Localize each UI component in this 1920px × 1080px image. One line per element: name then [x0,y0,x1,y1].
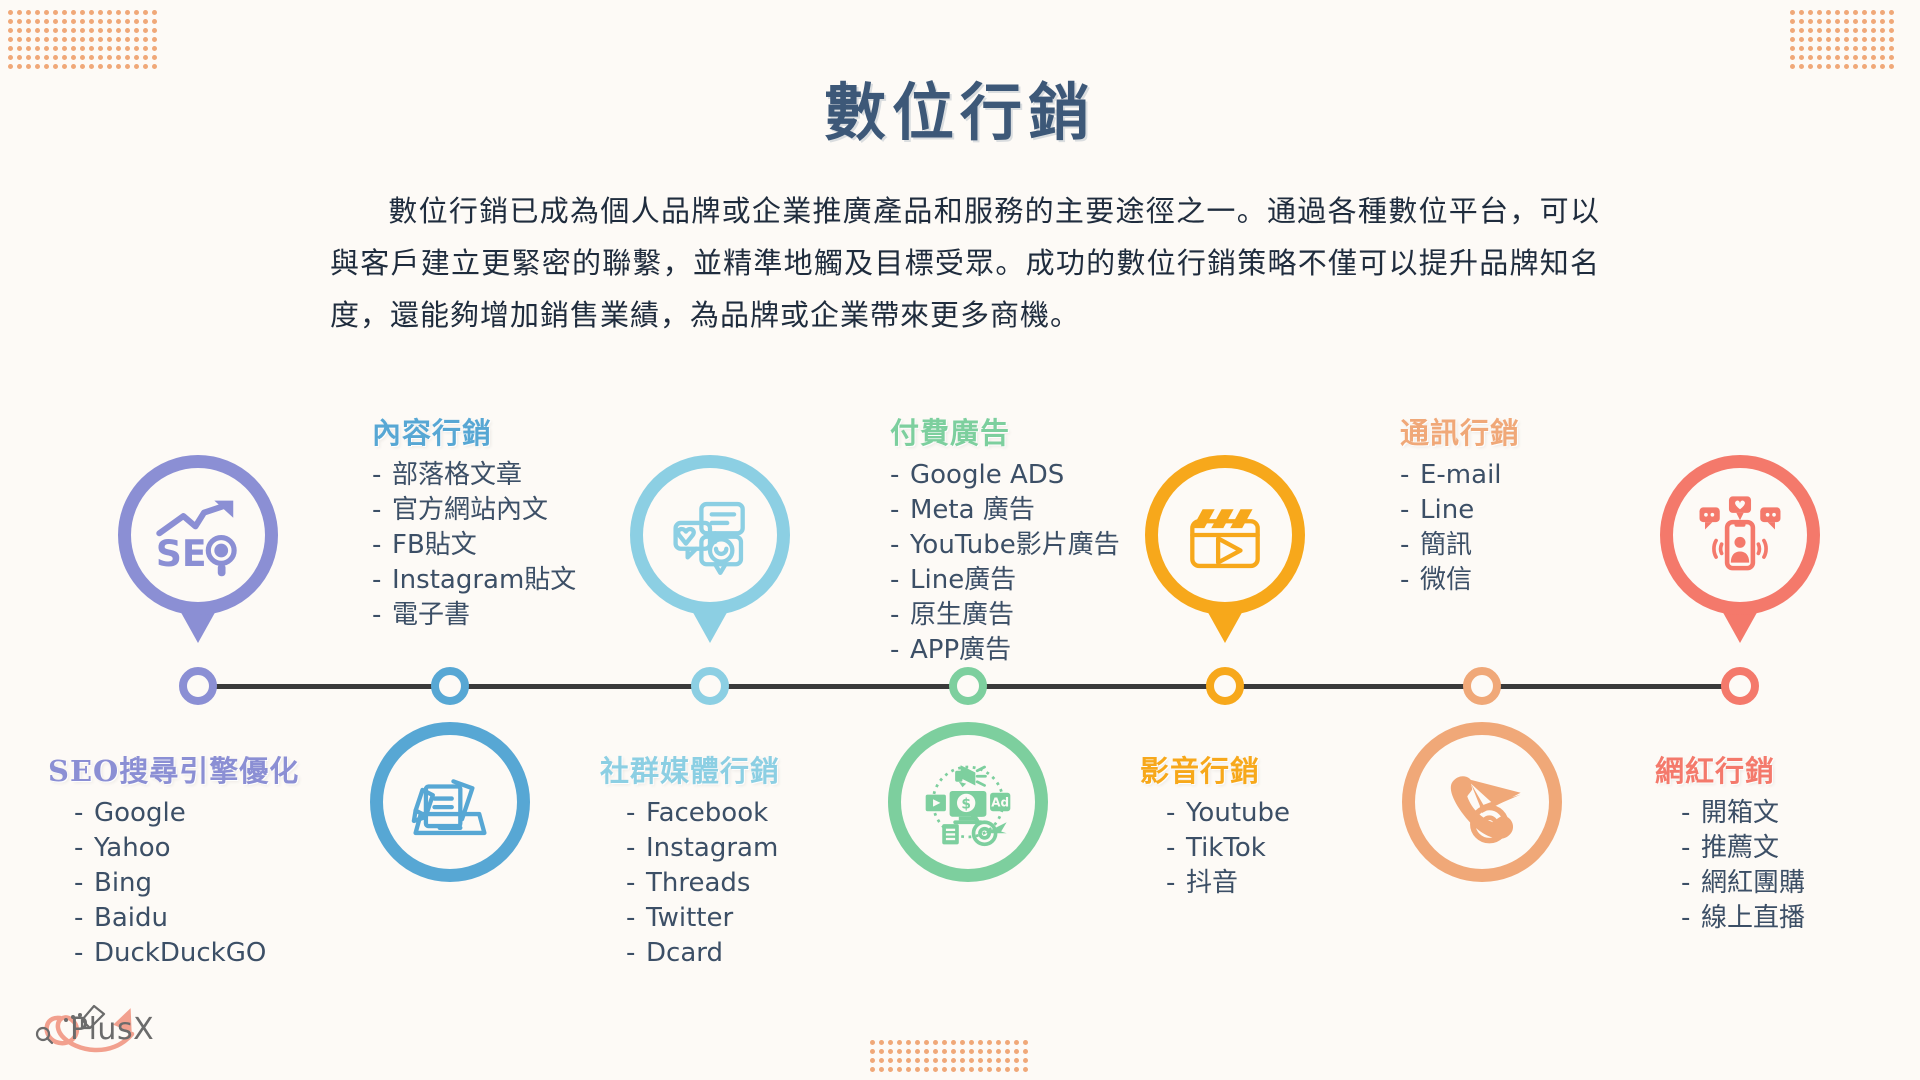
list-item-label: Line廣告 [910,565,1016,595]
list-item: -Twitter [626,901,930,936]
bullet-dash: - [626,796,646,831]
page-title: 數位行銷 [0,62,1920,152]
channel-heading-messaging: 通訊行銷 [1400,410,1730,452]
timeline-node-messaging[interactable] [1463,667,1501,705]
svg-text:$: $ [961,796,971,812]
marker-pin-content[interactable] [370,722,530,910]
list-item-label: 電子書 [392,600,470,630]
channel-heading-paid-ads: 付費廣告 [890,410,1220,452]
list-item-label: Facebook [646,798,768,828]
bullet-dash: - [372,598,392,633]
list-item-label: 抖音 [1186,868,1238,898]
bullet-dash: - [626,831,646,866]
list-item: -Baidu [74,901,378,936]
list-item-label: Dcard [646,938,723,968]
list-item: -線上直播 [1681,901,1920,936]
marker-pin-seo[interactable]: SE [118,455,278,643]
list-item-label: TikTok [1186,833,1266,863]
bullet-dash: - [1400,458,1420,493]
marker-pin-video[interactable] [1145,455,1305,643]
channel-heading-influencer: 網紅行銷 [1655,748,1920,790]
list-item-label: 網紅團購 [1701,868,1805,898]
list-item-label: 推薦文 [1701,833,1779,863]
channel-list-social: -Facebook-Instagram-Threads-Twitter-Dcar… [600,796,930,971]
bullet-dash: - [74,866,94,901]
list-item-label: 線上直播 [1701,903,1805,933]
list-item-label: 開箱文 [1701,798,1779,828]
bullet-dash: - [626,936,646,971]
timeline-node-influencer[interactable] [1721,667,1759,705]
list-item: -Threads [626,866,930,901]
phone-envelope-at-icon [1402,722,1562,882]
bullet-dash: - [74,901,94,936]
bullet-dash: - [1681,866,1701,901]
list-item-label: Instagram [646,833,778,863]
list-item-label: Instagram貼文 [392,565,576,595]
channel-heading-social: 社群媒體行銷 [600,748,930,790]
bullet-dash: - [890,633,910,668]
bullet-dash: - [890,528,910,563]
marker-pin-messaging[interactable] [1402,722,1562,910]
infographic-canvas: 數位行銷 數位行銷已成為個人品牌或企業推廣產品和服務的主要途徑之一。通過各種數位… [0,0,1920,1080]
list-item-label: 官方網站內文 [392,495,548,525]
bullet-dash: - [372,563,392,598]
list-item: -推薦文 [1681,831,1920,866]
laptop-document-pencil-icon [370,722,530,882]
timeline-node-seo[interactable] [179,667,217,705]
list-item-label: Bing [94,868,152,898]
channel-block-influencer: 網紅行銷-開箱文-推薦文-網紅團購-線上直播 [1655,748,1920,936]
list-item-label: Meta 廣告 [910,495,1035,525]
bullet-dash: - [1166,796,1186,831]
bullet-dash: - [1166,831,1186,866]
bullet-dash: - [1400,563,1420,598]
list-item: -Instagram [626,831,930,866]
bullet-dash: - [890,458,910,493]
bullet-dash: - [372,528,392,563]
list-item-label: Threads [646,868,750,898]
timeline-node-paid-ads[interactable] [949,667,987,705]
bullet-dash: - [1681,831,1701,866]
bullet-dash: - [1400,528,1420,563]
bullet-dash: - [1681,901,1701,936]
list-item-label: Yahoo [94,833,171,863]
bullet-dash: - [626,901,646,936]
speech-bubbles-icon [630,455,790,615]
channel-heading-content: 內容行銷 [372,410,702,452]
list-item-label: DuckDuckGO [94,938,266,968]
marker-pin-social[interactable] [630,455,790,643]
channel-list-influencer: -開箱文-推薦文-網紅團購-線上直播 [1655,796,1920,936]
list-item: -Google [74,796,378,831]
list-item: -網紅團購 [1681,866,1920,901]
channel-block-social: 社群媒體行銷-Facebook-Instagram-Threads-Twitte… [600,748,930,971]
list-item: -Dcard [626,936,930,971]
marker-pin-paid-ads[interactable]: $Ad [888,722,1048,910]
bullet-dash: - [1400,493,1420,528]
svg-text:SE: SE [156,532,207,575]
list-item-label: APP廣告 [910,635,1011,665]
list-item-label: YouTube影片廣告 [910,530,1120,560]
list-item-label: Youtube [1186,798,1290,828]
list-item: -Bing [74,866,378,901]
list-item: -開箱文 [1681,796,1920,831]
list-item-label: E-mail [1420,460,1502,490]
bullet-dash: - [626,866,646,901]
intro-text: 數位行銷已成為個人品牌或企業推廣產品和服務的主要途徑之一。通過各種數位平台，可以… [330,194,1600,332]
logo-wordmark: PlusX [70,1012,154,1047]
list-item-label: Baidu [94,903,168,933]
timeline-node-content[interactable] [431,667,469,705]
list-item-label: Google [94,798,186,828]
phone-social-heart-icon [1660,455,1820,615]
ad-ecosystem-icon: $Ad [888,722,1048,882]
list-item-label: FB貼文 [392,530,477,560]
marker-pin-influencer[interactable] [1660,455,1820,643]
clapperboard-play-icon [1145,455,1305,615]
bullet-dash: - [1681,796,1701,831]
list-item-label: 部落格文章 [392,460,522,490]
bullet-dash: - [74,936,94,971]
list-item: -DuckDuckGO [74,936,378,971]
list-item-label: 原生廣告 [910,600,1014,630]
channel-heading-seo: SEO搜尋引擎優化 [48,748,378,790]
list-item: -Yahoo [74,831,378,866]
bullet-dash: - [890,493,910,528]
list-item-label: 簡訊 [1420,530,1472,560]
bullet-dash: - [74,796,94,831]
bullet-dash: - [890,563,910,598]
timeline-node-social[interactable] [691,667,729,705]
intro-paragraph: 數位行銷已成為個人品牌或企業推廣產品和服務的主要途徑之一。通過各種數位平台，可以… [330,185,1600,341]
list-item-label: Line [1420,495,1474,525]
bullet-dash: - [74,831,94,866]
list-item: -Facebook [626,796,930,831]
seo-growth-icon: SE [118,455,278,615]
list-item-label: Twitter [646,903,733,933]
list-item-label: Google ADS [910,460,1064,490]
bullet-dash: - [890,598,910,633]
channel-list-seo: -Google-Yahoo-Bing-Baidu-DuckDuckGO [48,796,378,971]
bullet-dash: - [1166,866,1186,901]
timeline-node-video[interactable] [1206,667,1244,705]
bullet-dash: - [372,493,392,528]
channel-block-seo: SEO搜尋引擎優化-Google-Yahoo-Bing-Baidu-DuckDu… [48,748,378,971]
svg-text:Ad: Ad [991,796,1009,810]
plusx-logo: PlusX [26,990,166,1068]
list-item-label: 微信 [1420,565,1472,595]
bullet-dash: - [372,458,392,493]
